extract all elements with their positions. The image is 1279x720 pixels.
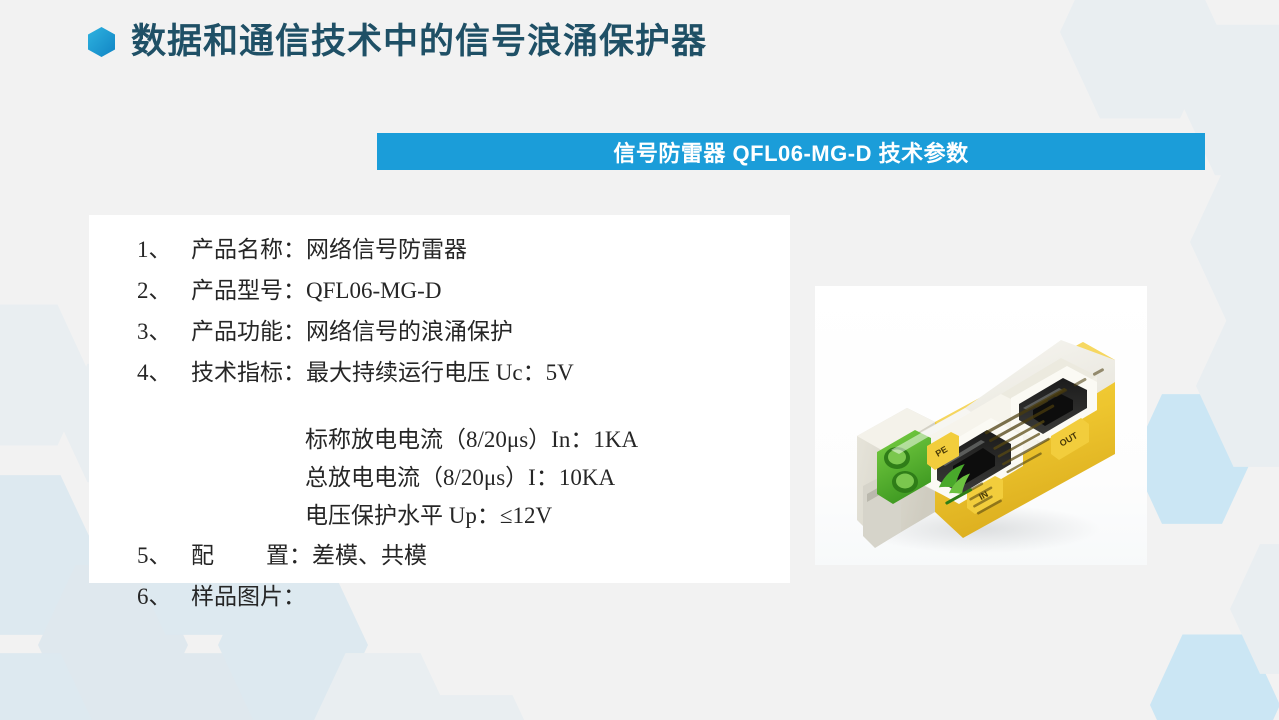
hexagon-icon <box>88 27 115 57</box>
surge-protector-product-photo: IN OUT PE <box>815 286 1147 565</box>
product-photo-card: IN OUT PE <box>815 286 1147 565</box>
spec-item: 3、 产品功能： 网络信号的浪涌保护 <box>137 311 777 352</box>
spec-item-label-a: 配 <box>191 535 214 576</box>
page-title: 数据和通信技术中的信号浪涌保护器 <box>131 24 707 59</box>
decorative-hexagon <box>1190 150 1279 334</box>
spec-item-value: 差模、共模 <box>312 535 427 576</box>
spec-sub-item: 电压保护水平 Up：≤12V <box>137 497 777 535</box>
spec-item-label: 产品功能： <box>191 311 306 352</box>
spec-item-number: 4、 <box>137 352 191 393</box>
spec-item-label: 技术指标： <box>191 352 306 393</box>
spec-sub-item: 总放电电流（8/20μs）I：10KA <box>137 459 777 497</box>
spec-item: 4、 技术指标： 最大持续运行电压 Uc：5V <box>137 352 777 393</box>
spec-item-number: 5、 <box>137 535 191 576</box>
section-banner-text: 信号防雷器 QFL06-MG-D 技术参数 <box>613 136 968 168</box>
spec-item-label: 产品型号： <box>191 270 306 311</box>
spec-item: 2、 产品型号： QFL06-MG-D <box>137 270 777 311</box>
spec-item-number: 6、 <box>137 576 191 617</box>
spec-item-number: 2、 <box>137 270 191 311</box>
specification-list: 1、 产品名称： 网络信号防雷器 2、 产品型号： QFL06-MG-D 3、 … <box>137 229 777 617</box>
spec-item-value: 最大持续运行电压 Uc：5V <box>306 352 574 393</box>
spec-item-value: 网络信号的浪涌保护 <box>306 311 513 352</box>
spec-item: 5、 配 置： 差模、共模 <box>137 535 777 576</box>
spec-item-value: QFL06-MG-D <box>306 270 441 311</box>
section-banner: 信号防雷器 QFL06-MG-D 技术参数 <box>377 133 1205 170</box>
spec-item-number: 3、 <box>137 311 191 352</box>
spec-item: 1、 产品名称： 网络信号防雷器 <box>137 229 777 270</box>
spec-item-number: 1、 <box>137 229 191 270</box>
slide-title-row: 数据和通信技术中的信号浪涌保护器 <box>88 24 707 59</box>
spec-sub-item: 标称放电电流（8/20μs）In：1KA <box>137 421 777 459</box>
spec-item-value: 网络信号防雷器 <box>306 229 467 270</box>
specification-card: 1、 产品名称： 网络信号防雷器 2、 产品型号： QFL06-MG-D 3、 … <box>89 215 790 583</box>
spec-item-label: 产品名称： <box>191 229 306 270</box>
spec-item-label: 样品图片： <box>191 576 306 617</box>
spec-item: 6、 样品图片： <box>137 576 777 617</box>
spec-item-label-b: 置： <box>266 535 312 576</box>
